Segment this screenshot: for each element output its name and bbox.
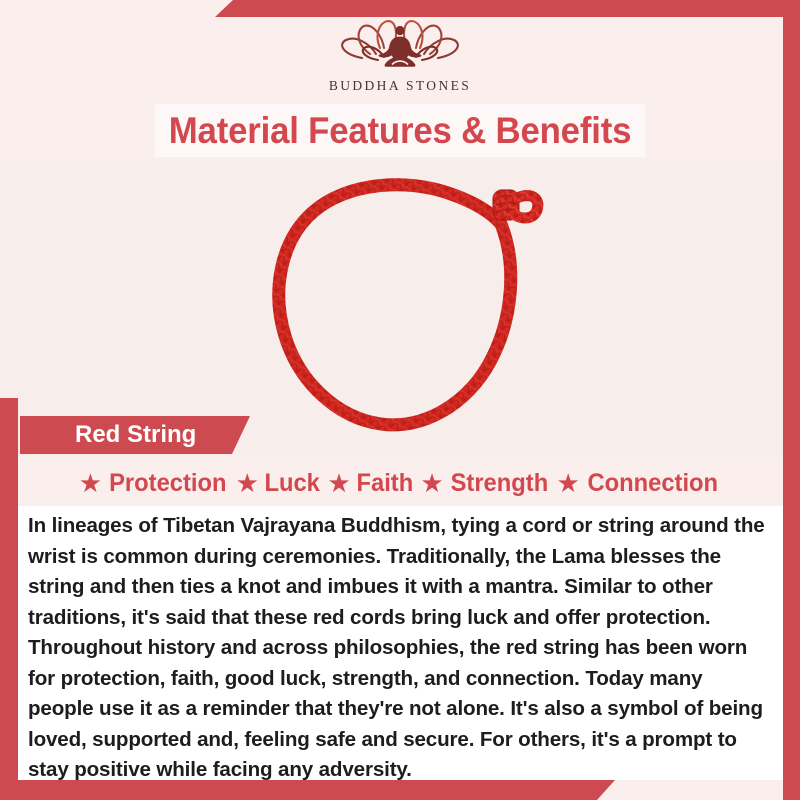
benefit-item: ★ Faith xyxy=(327,469,414,498)
lotus-meditation-icon xyxy=(332,14,468,76)
decor-frame-bottom xyxy=(0,780,615,800)
product-label-banner: Red String xyxy=(20,416,250,454)
benefit-item: ★ Connection xyxy=(556,469,721,498)
decor-frame-right xyxy=(783,0,800,800)
brand-logo: BUDDHA STONES xyxy=(0,14,800,102)
star-icon: ★ xyxy=(327,470,350,496)
benefit-label-protection: Protection xyxy=(109,469,226,498)
benefit-item: ★ Luck xyxy=(236,469,322,498)
benefit-label-luck: Luck xyxy=(264,469,319,498)
benefit-label-connection: Connection xyxy=(587,469,718,498)
benefit-item: ★ Protection xyxy=(79,469,230,498)
benefits-list: ★ Protection ★ Luck ★ Faith ★ Strength ★… xyxy=(18,462,782,504)
product-label: Red String xyxy=(20,421,196,449)
red-string-bracelet-image xyxy=(255,168,555,448)
benefit-item: ★ Strength xyxy=(420,469,550,498)
benefit-label-faith: Faith xyxy=(356,469,413,498)
benefit-label-strength: Strength xyxy=(450,469,548,498)
decor-frame-top xyxy=(215,0,800,17)
star-icon: ★ xyxy=(420,470,443,496)
description-text: In lineages of Tibetan Vajrayana Buddhis… xyxy=(28,511,771,786)
star-icon: ★ xyxy=(79,470,102,496)
page-title: Material Features & Benefits xyxy=(169,110,631,152)
infographic-page: BUDDHA STONES Material Features & Benefi… xyxy=(0,0,800,800)
description-panel: In lineages of Tibetan Vajrayana Buddhis… xyxy=(18,506,783,780)
star-icon: ★ xyxy=(236,470,259,496)
star-icon: ★ xyxy=(556,470,579,496)
product-photo-area xyxy=(0,160,800,455)
title-banner: Material Features & Benefits xyxy=(155,104,645,157)
brand-wordmark: BUDDHA STONES xyxy=(329,78,471,94)
decor-frame-left xyxy=(0,398,18,800)
